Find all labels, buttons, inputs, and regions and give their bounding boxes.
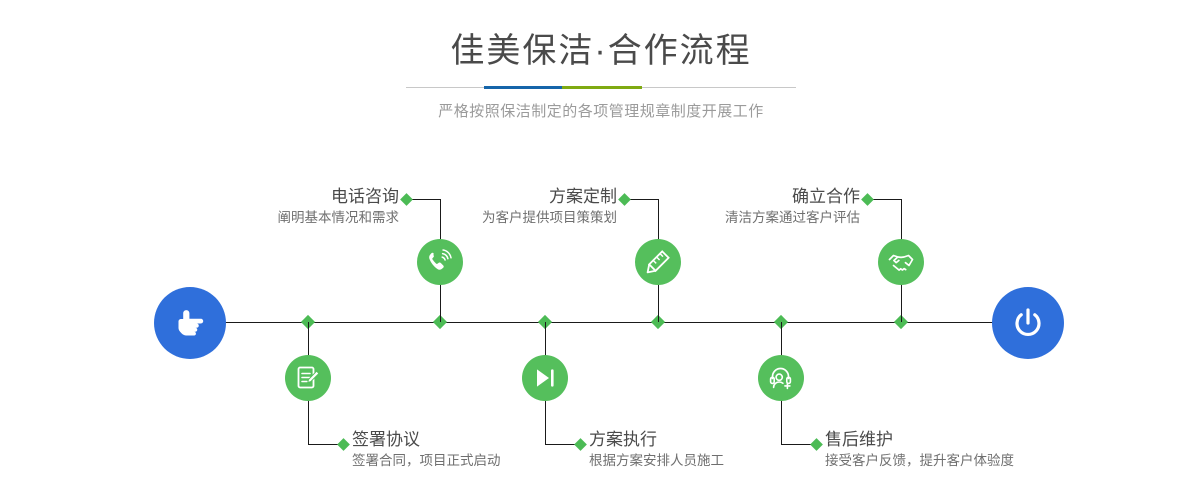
step-2-title: 签署协议	[352, 429, 501, 451]
step-4-desc: 根据方案安排人员施工	[589, 451, 724, 471]
step-3-desc: 为客户提供项目策策划	[380, 208, 617, 228]
step-5-icon-badge[interactable]	[878, 239, 924, 285]
step-6-icon-badge[interactable]	[758, 355, 804, 401]
step-2-label: 签署协议 签署合同，项目正式启动	[352, 429, 501, 471]
step-3-icon-badge[interactable]	[635, 239, 681, 285]
phone-call-icon	[426, 248, 454, 276]
handshake-icon	[887, 248, 915, 276]
step-4-title: 方案执行	[589, 429, 724, 451]
process-flow-page: 佳美保洁·合作流程 严格按照保洁制定的各项管理规章制度开展工作	[0, 0, 1202, 502]
timeline-end-node[interactable]	[992, 287, 1064, 359]
step-2-desc: 签署合同，项目正式启动	[352, 451, 501, 471]
play-next-icon	[531, 364, 559, 392]
page-subtitle: 严格按照保洁制定的各项管理规章制度开展工作	[0, 101, 1202, 123]
pencil-ruler-icon	[644, 248, 672, 276]
document-edit-icon	[294, 364, 322, 392]
step-1-icon-badge[interactable]	[417, 239, 463, 285]
pointing-hand-icon	[170, 303, 210, 343]
step-6-title: 售后维护	[825, 429, 1014, 451]
customer-service-icon	[767, 364, 795, 392]
step-1-desc: 阐明基本情况和需求	[162, 208, 399, 228]
power-icon	[1008, 303, 1048, 343]
step-1-label: 电话咨询 阐明基本情况和需求	[162, 186, 399, 228]
step-3-label: 方案定制 为客户提供项目策策划	[380, 186, 617, 228]
step-6-label-marker	[810, 438, 823, 451]
step-4-label: 方案执行 根据方案安排人员施工	[589, 429, 724, 471]
step-5-label-marker	[861, 193, 874, 206]
page-header: 佳美保洁·合作流程 严格按照保洁制定的各项管理规章制度开展工作	[0, 28, 1202, 123]
title-divider	[406, 86, 796, 89]
step-4-icon-badge[interactable]	[522, 355, 568, 401]
step-4-label-marker	[574, 438, 587, 451]
divider-accent-blue	[484, 86, 562, 89]
step-3-title: 方案定制	[380, 186, 617, 208]
page-title: 佳美保洁·合作流程	[0, 28, 1202, 74]
step-6-desc: 接受客户反馈，提升客户体验度	[825, 451, 1014, 471]
step-5-label: 确立合作 清洁方案通过客户评估	[623, 186, 860, 228]
divider-accent-green	[562, 86, 642, 89]
step-1-title: 电话咨询	[162, 186, 399, 208]
step-5-title: 确立合作	[623, 186, 860, 208]
step-2-label-marker	[337, 438, 350, 451]
step-5-desc: 清洁方案通过客户评估	[623, 208, 860, 228]
timeline-start-node[interactable]	[154, 287, 226, 359]
step-2-icon-badge[interactable]	[285, 355, 331, 401]
step-6-label: 售后维护 接受客户反馈，提升客户体验度	[825, 429, 1014, 471]
